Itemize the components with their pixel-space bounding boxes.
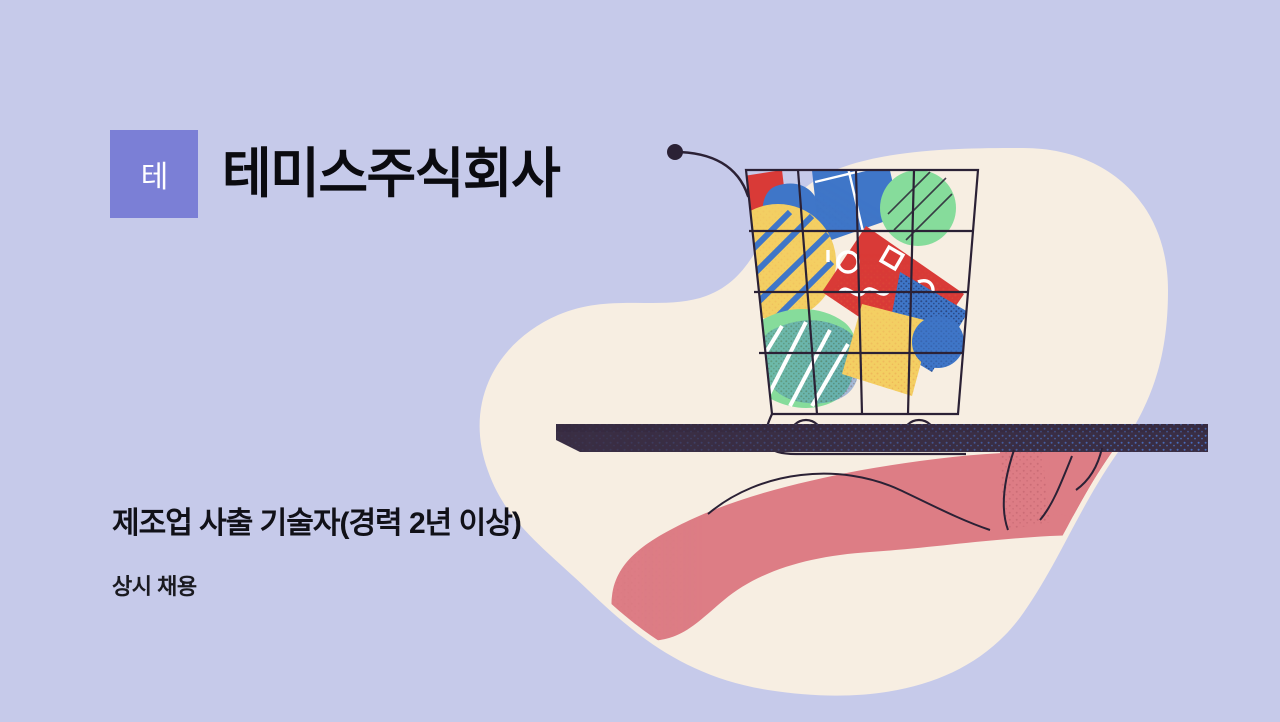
item-green-striped-circle [880, 170, 956, 246]
company-name: 테미스주식회사 [222, 147, 559, 201]
recruitment-type-label: 상시 채용 [112, 574, 197, 600]
company-identity: 테 테미스주식회사 [110, 130, 559, 218]
dark-platform-bar [556, 424, 1208, 452]
job-title: 제조업 사출 기술자(경력 2년 이상) [112, 506, 521, 542]
company-logo-badge: 테 [110, 130, 198, 218]
item-blue-navy-circle [912, 316, 964, 368]
cart-handle-knob [667, 144, 683, 160]
job-posting-banner: 테 테미스주식회사 제조업 사출 기술자(경력 2년 이상) 상시 채용 [0, 0, 1280, 722]
shopping-cart-illustration [0, 0, 1280, 722]
